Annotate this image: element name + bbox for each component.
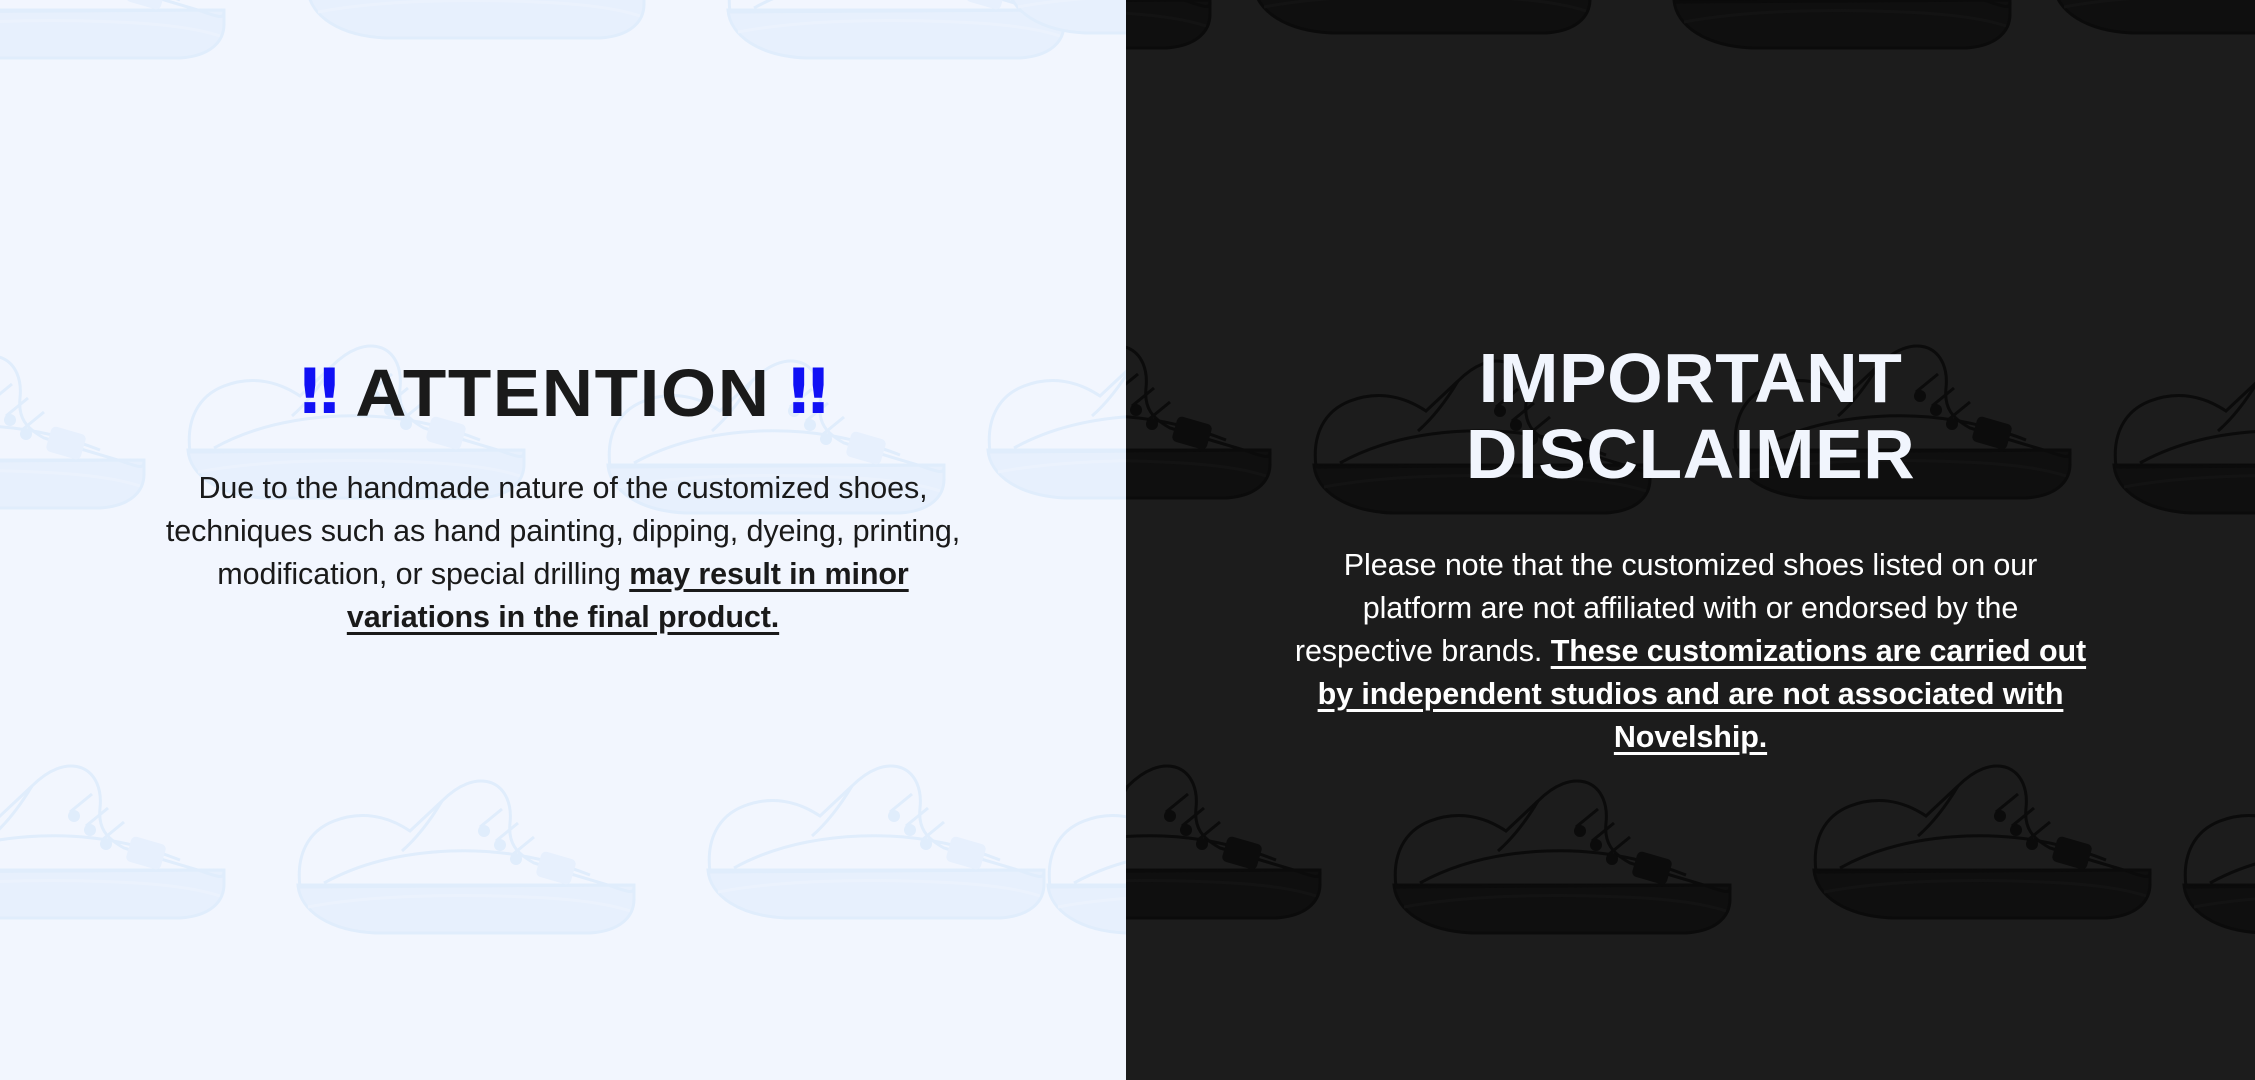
disclaimer-content: IMPORTANT DISCLAIMER Please note that th…	[1126, 0, 2255, 759]
attention-content: ‼ ATTENTION ‼ Due to the handmade nature…	[0, 0, 1126, 639]
disclaimer-headline-line-1: IMPORTANT	[1126, 340, 2255, 416]
disclaimer-panel-inner: IMPORTANT DISCLAIMER Please note that th…	[1126, 0, 2255, 1080]
disclaimer-headline-line-2: DISCLAIMER	[1126, 416, 2255, 492]
attention-body: Due to the handmade nature of the custom…	[163, 427, 963, 639]
disclaimer-panel: IMPORTANT DISCLAIMER Please note that th…	[1126, 0, 2255, 1080]
attention-headline-word: ATTENTION	[355, 360, 770, 427]
double-exclamation-icon-right: ‼	[789, 361, 826, 423]
attention-headline: ‼ ATTENTION ‼	[0, 360, 1126, 427]
attention-panel: ‼ ATTENTION ‼ Due to the handmade nature…	[0, 0, 1126, 1080]
disclaimer-headline: IMPORTANT DISCLAIMER	[1126, 340, 2255, 492]
disclaimer-banner: ‼ ATTENTION ‼ Due to the handmade nature…	[0, 0, 2255, 1080]
attention-panel-inner: ‼ ATTENTION ‼ Due to the handmade nature…	[0, 0, 1126, 1080]
disclaimer-body: Please note that the customized shoes li…	[1291, 492, 2091, 759]
double-exclamation-icon-left: ‼	[300, 361, 337, 423]
